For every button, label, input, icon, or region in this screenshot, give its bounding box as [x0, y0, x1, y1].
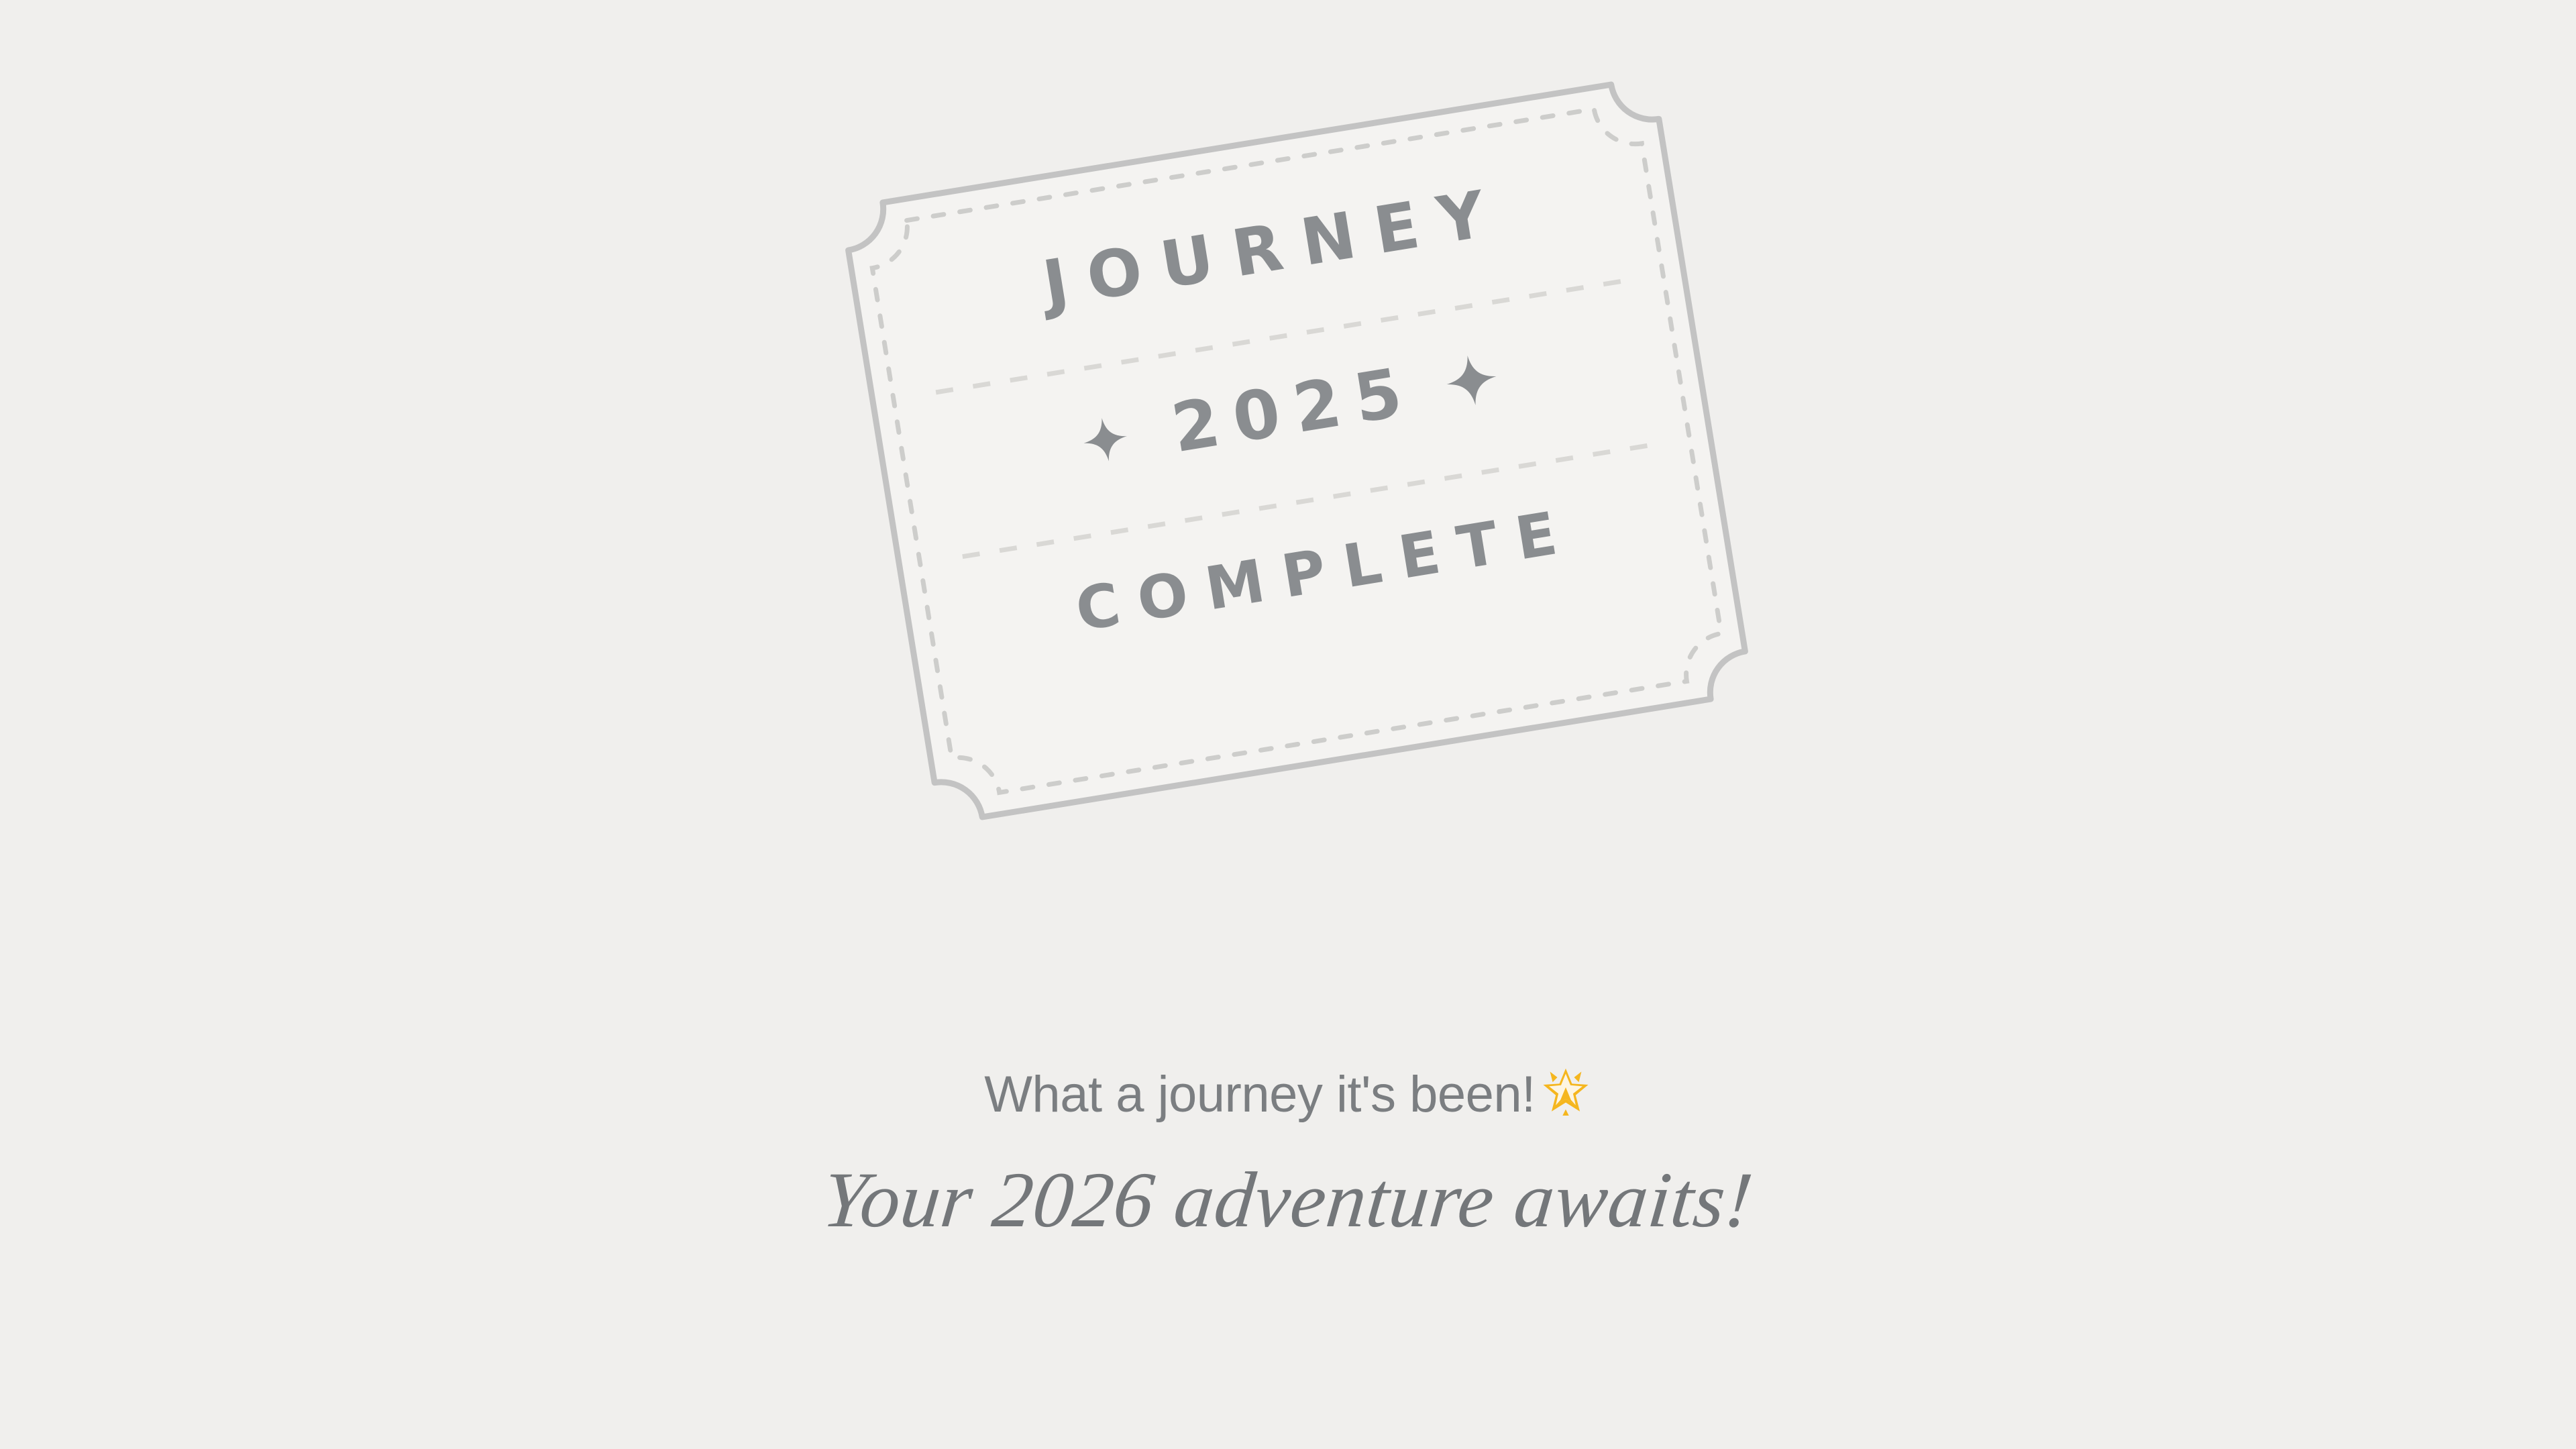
celebration-screen: JOURNEY 2025 COMPLETE [0, 0, 2576, 1449]
ticket-text-layer: JOURNEY 2025 COMPLETE [814, 35, 1780, 867]
ticket-complete-label: COMPLETE [1053, 495, 1580, 647]
celebration-caption: What a journey it's been! [0, 1063, 2576, 1120]
sparkle-icon-right [1442, 350, 1501, 410]
next-year-message-text: Your 2026 adventure awaits! [819, 1156, 1758, 1244]
next-year-message: Your 2026 adventure awaits! [0, 1140, 2576, 1259]
celebration-caption-text: What a journey it's been! [984, 1066, 1536, 1123]
ticket-journey-label: JOURNEY [1018, 174, 1510, 325]
glowing-star-emoji [1540, 1063, 1592, 1116]
journey-complete-ticket: JOURNEY 2025 COMPLETE [864, 99, 1729, 802]
ticket-year-label: 2025 [1152, 351, 1421, 470]
sparkle-icon-left [1079, 413, 1132, 466]
